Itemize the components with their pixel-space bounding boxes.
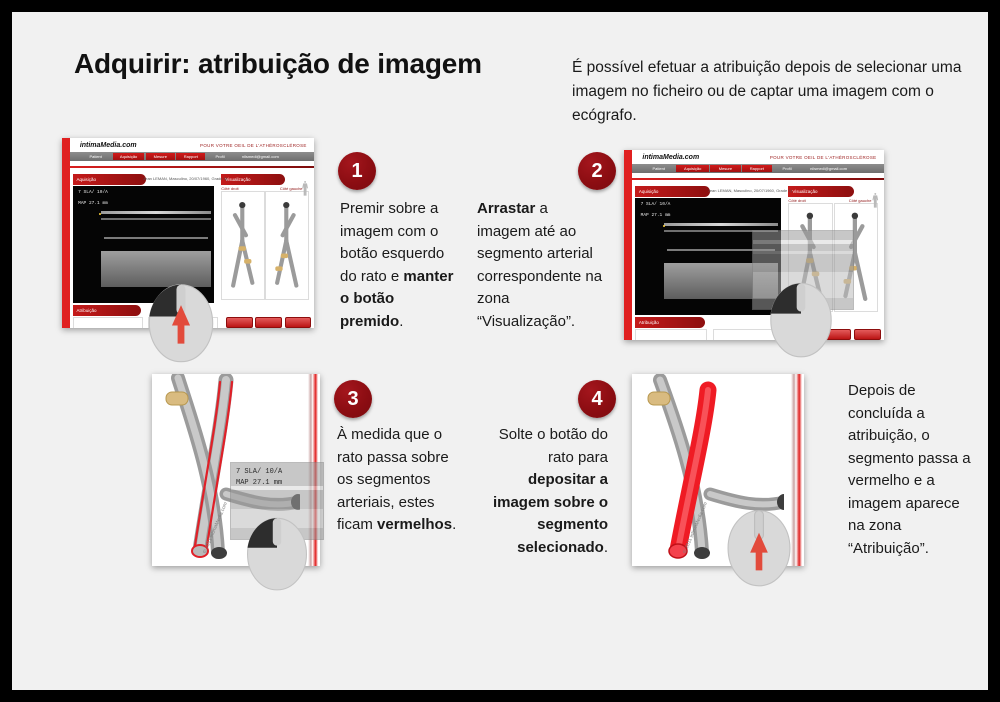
step-1-caption-tail: . <box>399 313 403 330</box>
body-silhouette-icon <box>299 180 311 199</box>
app-tagline: POUR VOTRE OEIL DE L'ATHÉROSCLÉROSE <box>200 143 307 148</box>
ghost-band-2 <box>753 251 853 254</box>
viz-label-right: Côté droit <box>221 186 238 191</box>
panel-title-atribuicao-label: Atribuição <box>77 308 97 313</box>
patient-info-line: Jean LEMAN, Masculino, 20/07/1960, Grade… <box>143 176 227 181</box>
measure-line1: 7 SLA/ 10/A <box>236 467 282 478</box>
ultrasound-overlay-line2: MAP 27.1 mm <box>641 213 671 219</box>
app-header-red-line <box>632 178 884 181</box>
ultrasound-overlay-line2: MAP 27.1 mm <box>78 201 108 207</box>
intro-paragraph: É possível efetuar a atribuição depois d… <box>572 56 988 128</box>
viz-label-right: Côté droit <box>788 198 805 203</box>
panel-title-aquisicao-label: Aquisição <box>639 189 659 194</box>
step-2-caption: Arrastar a imagem até ao segmento arteri… <box>477 198 603 333</box>
app-logo: intimaMedia.com <box>642 154 699 161</box>
us-band-1 <box>101 211 211 214</box>
measure-overlay-step3: 7 SLA/ 10/A MAP 27.1 mm <box>236 467 282 488</box>
step-badge-1: 1 <box>338 152 376 190</box>
nav-item-aquisicao[interactable]: Aquisição <box>676 165 709 172</box>
nav-item-rapport[interactable]: Rapport <box>176 153 205 160</box>
arterial-tree-left[interactable] <box>268 195 305 294</box>
step-4-caption-tail: . <box>604 539 608 556</box>
app-left-red-strip <box>624 150 632 340</box>
mouse-drag-icon-step2 <box>767 277 835 359</box>
panel-title-atribuicao: Atribuição <box>73 305 141 316</box>
attribution-box-right[interactable] <box>73 317 143 328</box>
ghost-band-1 <box>753 240 853 244</box>
step-4-caption: Solte o botão do rato para depositar a i… <box>480 424 608 559</box>
panel-title-visualizacao-label: Visualização <box>792 189 817 194</box>
nav-account-email: nilsmedi@gmail.com <box>236 153 285 160</box>
step-2-caption-bold: Arrastar <box>477 200 535 217</box>
app-logo: intimaMedia.com <box>80 142 137 149</box>
us-band-1 <box>664 223 778 226</box>
panel-title-visualizacao: Visualização <box>788 186 853 197</box>
ultrasound-overlay-line1: 7 SLA/ 10/A <box>78 190 108 196</box>
app-header-red-line <box>70 166 314 169</box>
panel-title-aquisicao: Aquisição <box>635 186 711 197</box>
step-badge-2: 2 <box>578 152 616 190</box>
nav-item-patient[interactable]: Patient <box>80 153 112 160</box>
step-badge-2-number: 2 <box>591 160 602 183</box>
nav-item-patient[interactable]: Patient <box>642 165 675 172</box>
step-badge-1-number: 1 <box>351 160 362 183</box>
app-header: intimaMedia.com POUR VOTRE OEIL DE L'ATH… <box>70 138 314 170</box>
panel-title-aquisicao: Aquisição <box>73 174 146 185</box>
button-fechar[interactable] <box>285 317 311 328</box>
body-silhouette-icon <box>869 192 882 211</box>
us-band-3 <box>104 237 209 239</box>
step-2-caption-normal: a imagem até ao segmento arterial corres… <box>477 200 602 330</box>
app-tagline: POUR VOTRE OEIL DE L'ATHÉROSCLÉROSE <box>770 155 877 160</box>
nav-item-rapport[interactable]: Rapport <box>742 165 772 172</box>
ultrasound-overlay-line1: 7 SLA/ 10/A <box>641 202 671 208</box>
app-left-red-strip <box>62 138 70 328</box>
app-header: intimaMedia.com POUR VOTRE OEIL DE L'ATH… <box>632 150 884 182</box>
step-badge-4: 4 <box>578 380 616 418</box>
mouse-release-icon-step4 <box>724 504 794 588</box>
attribution-box-right[interactable] <box>635 329 707 340</box>
step-3-caption-bold: vermelhos <box>377 516 452 533</box>
panel-title-visualizacao: Visualização <box>221 174 284 185</box>
us-marker-dot <box>663 225 665 227</box>
panel-title-visualizacao-label: Visualização <box>225 177 250 182</box>
panel-title-atribuicao: Atribuição <box>635 317 705 328</box>
step-badge-3: 3 <box>334 380 372 418</box>
mouse-press-icon-step1 <box>145 278 217 364</box>
panel-title-aquisicao-label: Aquisição <box>77 177 97 182</box>
measure-line2: MAP 27.1 mm <box>236 478 282 489</box>
step-4-caption-normal: Solte o botão do rato para <box>499 426 608 466</box>
nav-item-mesure[interactable]: Mesure <box>710 165 740 172</box>
button-fechar[interactable] <box>854 329 881 340</box>
button-guardar[interactable] <box>255 317 281 328</box>
patient-info-line: Jean LEMAN, Masculino, 20/07/1960, Grade… <box>708 188 792 193</box>
us-band-2 <box>101 218 211 220</box>
nav-account-email: nilsmedi@gmail.com <box>803 165 853 172</box>
mouse-drag-icon-step3 <box>244 512 310 592</box>
panel-title-atribuicao-label: Atribuição <box>639 320 659 325</box>
button-anular[interactable] <box>226 317 252 328</box>
closing-paragraph: Depois de concluída a atribuição, o segm… <box>848 380 978 560</box>
nav-item-aquisicao[interactable]: Aquisição <box>113 153 145 160</box>
step-3-caption-tail: . <box>452 516 456 533</box>
step-4-caption-bold: depositar a imagem sobre o segmento sele… <box>493 471 608 556</box>
step-3-caption: À medida que o rato passa sobre os segme… <box>337 424 457 537</box>
app-navbar[interactable]: Patient Aquisição Mesure Rapport Profil … <box>70 152 314 162</box>
nav-item-profil[interactable]: Profil <box>775 165 800 172</box>
slide-canvas: Adquirir: atribuição de imagem É possíve… <box>12 12 988 690</box>
app-navbar[interactable]: Patient Aquisição Mesure Rapport Profil … <box>632 164 884 174</box>
arterial-tree-right[interactable] <box>224 195 261 294</box>
step-1-caption: Premir sobre a imagem com o botão esquer… <box>340 198 458 333</box>
nav-item-profil[interactable]: Profil <box>208 153 232 160</box>
page-title: Adquirir: atribuição de imagem <box>74 48 482 80</box>
nav-item-mesure[interactable]: Mesure <box>146 153 175 160</box>
step-badge-3-number: 3 <box>347 388 358 411</box>
step-badge-4-number: 4 <box>591 388 602 411</box>
